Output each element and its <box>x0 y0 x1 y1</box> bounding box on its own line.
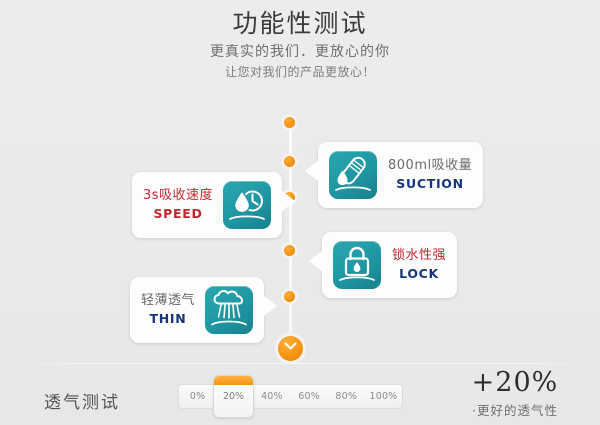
breathability-slider[interactable]: 0% 20% 40% 60% 80% 100% <box>178 384 403 409</box>
feature-card-speed-labels: 3s吸收速度 SPEED <box>143 188 213 222</box>
slider-thumb-value: 20% <box>214 391 253 402</box>
feature-card-lock-labels: 锁水性强 LOCK <box>392 248 446 282</box>
feature-card-lock-tail <box>309 250 323 272</box>
slider-tick-4[interactable]: 80% <box>328 391 365 402</box>
page-subtitle: 更真实的我们．更放心的你 <box>0 42 600 63</box>
feature-card-lock-en: LOCK <box>392 266 446 282</box>
feature-card-suction-labels: 800ml吸收量 SUCTION <box>388 158 472 192</box>
slider-tick-2[interactable]: 40% <box>253 391 290 402</box>
chevron-down-icon[interactable] <box>278 336 303 361</box>
header-block: 功能性测试 更真实的我们．更放心的你 让您对我们的产品更放心！ <box>0 8 600 81</box>
feature-card-suction[interactable]: 800ml吸收量 SUCTION <box>318 142 483 208</box>
feature-card-speed[interactable]: 3s吸收速度 SPEED <box>132 172 282 238</box>
product-feature-infographic: 功能性测试 更真实的我们．更放心的你 让您对我们的产品更放心！ 3s吸收速度 S… <box>0 0 600 425</box>
timeline-dot-4[interactable] <box>284 245 295 256</box>
feature-card-thin[interactable]: 轻薄透气 THIN <box>130 277 264 343</box>
slider-thumb[interactable]: 20% <box>213 375 254 418</box>
breathable-tree-icon <box>205 286 253 334</box>
feature-card-speed-en: SPEED <box>143 206 213 222</box>
bottom-divider <box>0 363 600 364</box>
breathability-test-label: 透气测试 <box>44 388 120 413</box>
feature-card-lock[interactable]: 锁水性强 LOCK <box>322 232 457 298</box>
timeline-dot-1[interactable] <box>284 117 295 128</box>
slider-thumb-cap <box>214 376 253 385</box>
page-subtitle-secondary: 让您对我们的产品更放心！ <box>0 63 600 81</box>
feature-card-suction-en: SUCTION <box>388 176 472 192</box>
result-caption: ·更好的透气性 <box>440 400 590 419</box>
page-title: 功能性测试 <box>0 8 600 40</box>
feature-card-thin-cn: 轻薄透气 <box>141 293 195 309</box>
feature-card-thin-tail <box>263 295 277 317</box>
result-block: +20% ·更好的透气性 <box>440 368 590 419</box>
timeline-track <box>289 120 292 342</box>
test-tube-droplet-icon <box>329 151 377 199</box>
feature-card-lock-cn: 锁水性强 <box>392 248 446 264</box>
feature-card-speed-cn: 3s吸收速度 <box>143 188 213 204</box>
feature-card-thin-labels: 轻薄透气 THIN <box>141 293 195 327</box>
result-value: +20% <box>440 368 590 398</box>
feature-card-suction-cn: 800ml吸收量 <box>388 158 472 174</box>
slider-tick-3[interactable]: 60% <box>291 391 328 402</box>
feature-card-suction-tail <box>305 160 319 182</box>
timeline-dot-2[interactable] <box>284 156 295 167</box>
feature-card-speed-tail <box>281 190 295 212</box>
droplet-clock-icon <box>223 181 271 229</box>
feature-card-thin-en: THIN <box>141 311 195 327</box>
slider-tick-5[interactable]: 100% <box>365 391 402 402</box>
timeline-dot-5[interactable] <box>284 291 295 302</box>
slider-tick-0[interactable]: 0% <box>179 391 216 402</box>
lock-droplet-icon <box>333 241 381 289</box>
